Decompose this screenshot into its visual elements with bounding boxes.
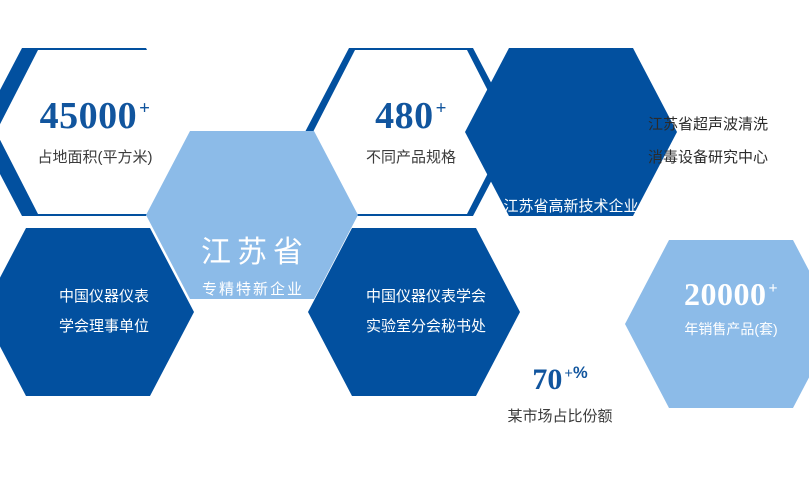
badge-cell-hightech[interactable]: 江苏省高新技术企业 xyxy=(465,48,677,216)
research-center-line-2: 消毒设备研究中心 xyxy=(648,141,768,174)
percent-sign: % xyxy=(573,364,588,382)
stat-cell-market-share[interactable]: 70+% 某市场占比份额 xyxy=(480,365,640,426)
stat-label: 某市场占比份额 xyxy=(480,405,640,426)
badge-cell-council[interactable]: 中国仪器仪表 学会理事单位 xyxy=(0,228,194,396)
research-center-line-1: 江苏省超声波清洗 xyxy=(648,108,768,141)
text-research-center: 江苏省超声波清洗 消毒设备研究中心 xyxy=(648,108,768,174)
stat-superscript: + xyxy=(564,366,573,382)
stat-cell-sales[interactable]: 20000+ 年销售产品(套) xyxy=(625,240,809,408)
hexagon-shape xyxy=(465,48,677,216)
hexagon-shape xyxy=(0,228,194,396)
infographic-canvas: 45000+ 占地面积(平方米) 480+ 不同产品规格 江苏省高新技术企业 江… xyxy=(0,0,809,487)
hexagon-shape xyxy=(625,240,809,408)
stat-number: 70+% xyxy=(532,363,587,396)
